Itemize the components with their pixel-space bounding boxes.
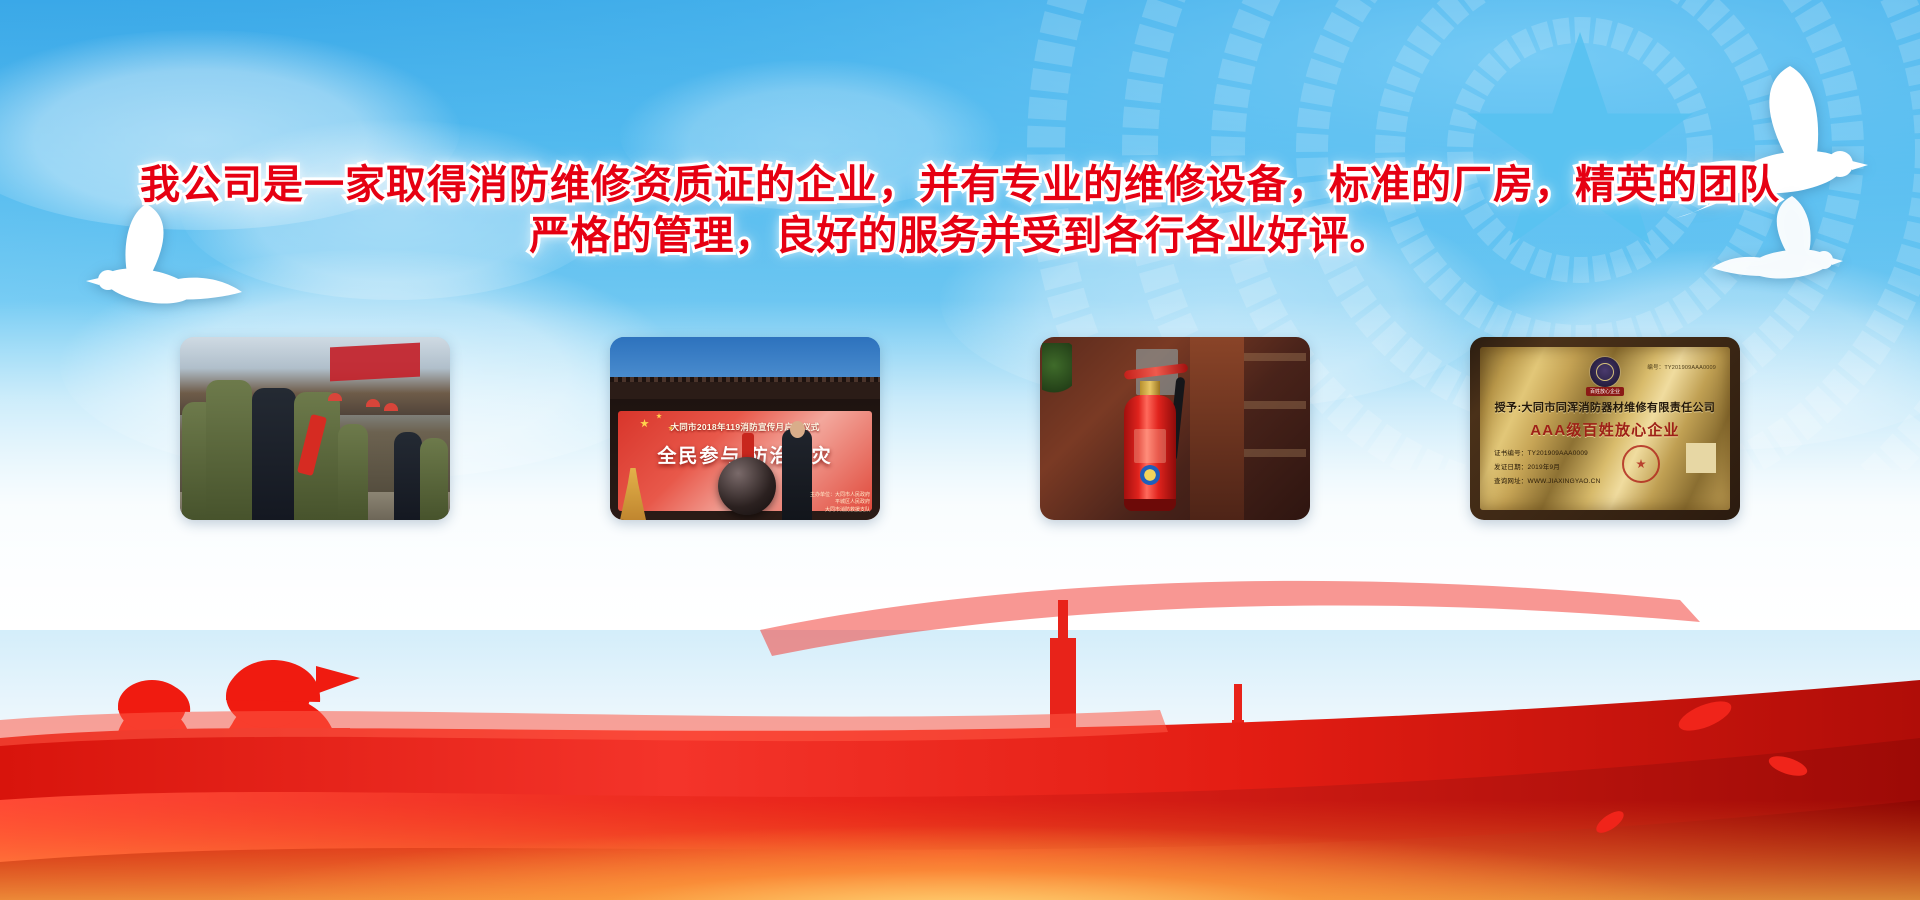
organizer-line-3: 大同市消防救援支队 xyxy=(810,507,870,515)
headline-line-1: 我公司是一家取得消防维修资质证的企业，并有专业的维修设备，标准的厂房，精英的团队 xyxy=(0,160,1920,211)
photo-certificate[interactable]: 百姓放心企业 编号：TY201909AAA0009 授予:大同市同浑消防器材维修… xyxy=(1470,337,1740,520)
photo-inspection[interactable]: 军警与领导检查消防器材现场 xyxy=(180,337,450,520)
shelf xyxy=(1244,449,1306,457)
ceremony-banner-title: 大同市2018年119消防宣传月启动仪式 xyxy=(620,421,870,433)
photo-alt-text: 室内展示的红色手提式灭火器 xyxy=(1040,510,1310,520)
plaque-serial-top: 编号：TY201909AAA0009 xyxy=(1647,363,1716,371)
shelf xyxy=(1244,401,1306,409)
headline-line-2: 严格的管理，良好的服务并受到各行各业好评。 xyxy=(0,211,1920,262)
ceremony-organizers: 主办单位：大同市人民政府 平城区人民政府 大同市消防救援支队 xyxy=(810,492,870,515)
plaque-cert-no: 证书编号：TY201909AAA0009 xyxy=(1494,447,1588,457)
extinguisher-base xyxy=(1124,499,1176,511)
extinguisher-badge xyxy=(1140,465,1160,485)
person-figure xyxy=(206,380,252,520)
person-figure xyxy=(394,432,422,520)
qr-code-icon xyxy=(1686,443,1716,473)
shelf xyxy=(1244,353,1306,361)
photo-strip: 军警与领导检查消防器材现场 大同市2018年119消防宣传月启动仪式 全民参与 … xyxy=(180,337,1740,520)
red-banner-prop xyxy=(330,343,420,382)
plaque-granted-to: 授予:大同市同浑消防器材维修有限责任公司 xyxy=(1480,399,1730,415)
headline: 我公司是一家取得消防维修资质证的企业，并有专业的维修设备，标准的厂房，精英的团队… xyxy=(0,160,1920,262)
emblem-icon xyxy=(1590,357,1620,387)
speaker-head xyxy=(790,421,805,438)
official-stamp-icon xyxy=(1622,445,1660,483)
red-cap xyxy=(366,399,380,407)
red-cap xyxy=(328,393,342,401)
launch-ball xyxy=(718,457,776,515)
photo-alt-text: 金色荣誉牌匾 xyxy=(1470,510,1740,520)
extinguisher-label xyxy=(1134,429,1166,463)
person-figure xyxy=(338,424,368,520)
promotional-banner: 我公司是一家取得消防维修资质证的企业，并有专业的维修设备，标准的厂房，精英的团队… xyxy=(0,0,1920,900)
person-figure xyxy=(252,388,296,520)
plaque-plate: 百姓放心企业 编号：TY201909AAA0009 授予:大同市同浑消防器材维修… xyxy=(1480,347,1730,510)
emblem-label: 百姓放心企业 xyxy=(1586,387,1624,396)
organizer-line-1: 主办单位：大同市人民政府 xyxy=(810,492,870,500)
person-figure xyxy=(420,438,448,520)
plaque-query-url: 查询网址：WWW.JIAXINGYAO.CN xyxy=(1494,475,1600,485)
red-cap xyxy=(384,403,398,411)
photo-ceremony[interactable]: 大同市2018年119消防宣传月启动仪式 全民参与 防治火灾 主办单位：大同市人… xyxy=(610,337,880,520)
speaker-figure xyxy=(782,429,812,520)
plaque-award-title: AAA级百姓放心企业 xyxy=(1480,419,1730,440)
door-area xyxy=(1190,337,1244,520)
plant-decoration xyxy=(1042,343,1072,399)
photo-extinguisher[interactable]: 室内展示的红色手提式灭火器 xyxy=(1040,337,1310,520)
plaque-issue-date: 发证日期：2019年9月 xyxy=(1494,461,1560,471)
organizer-line-2: 平城区人民政府 xyxy=(810,499,870,507)
